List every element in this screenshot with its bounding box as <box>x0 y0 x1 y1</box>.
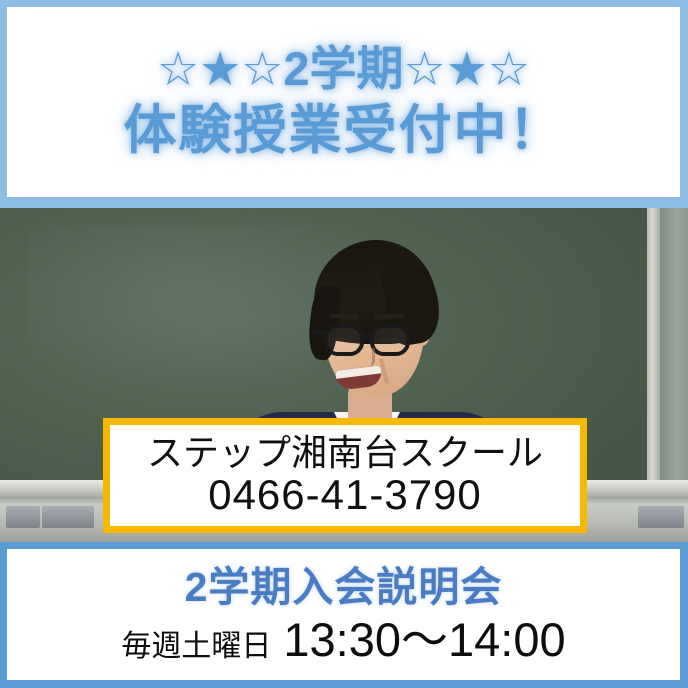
glasses-lens-left <box>324 324 364 356</box>
blackboard-eraser <box>42 506 94 528</box>
poster-root: ☆★☆2学期☆★☆ 体験授業受付中！ <box>0 0 688 688</box>
nose <box>360 348 375 368</box>
glasses-lens-right <box>370 324 410 356</box>
headline-line-2: 体験授業受付中！ <box>124 104 564 157</box>
top-banner: ☆★☆2学期☆★☆ 体験授業受付中！ <box>0 0 688 208</box>
headline-line-1: ☆★☆2学期☆★☆ <box>157 45 530 92</box>
bottom-banner: 2学期入会説明会 毎週土曜日 13:30〜14:00 <box>0 542 688 688</box>
chalkboard-frame-right <box>647 208 660 508</box>
blackboard-eraser <box>638 506 684 528</box>
seminar-time: 13:30〜14:00 <box>283 616 565 663</box>
contact-box: ステップ湘南台スクール 0466-41-3790 <box>103 418 587 533</box>
seminar-day: 毎週土曜日 <box>121 632 271 662</box>
seminar-title: 2学期入会説明会 <box>185 567 503 608</box>
glasses-bridge <box>362 334 372 338</box>
top-banner-inner: ☆★☆2学期☆★☆ 体験授業受付中！ <box>7 7 680 197</box>
wall-right <box>660 208 688 516</box>
phone-number[interactable]: 0466-41-3790 <box>208 473 482 518</box>
bottom-banner-inner: 2学期入会説明会 毎週土曜日 13:30〜14:00 <box>7 549 680 680</box>
contact-box-inner: ステップ湘南台スクール 0466-41-3790 <box>110 425 580 526</box>
seminar-schedule-row: 毎週土曜日 13:30〜14:00 <box>121 616 565 663</box>
school-name: ステップ湘南台スクール <box>147 434 543 472</box>
blackboard-eraser <box>6 506 40 528</box>
